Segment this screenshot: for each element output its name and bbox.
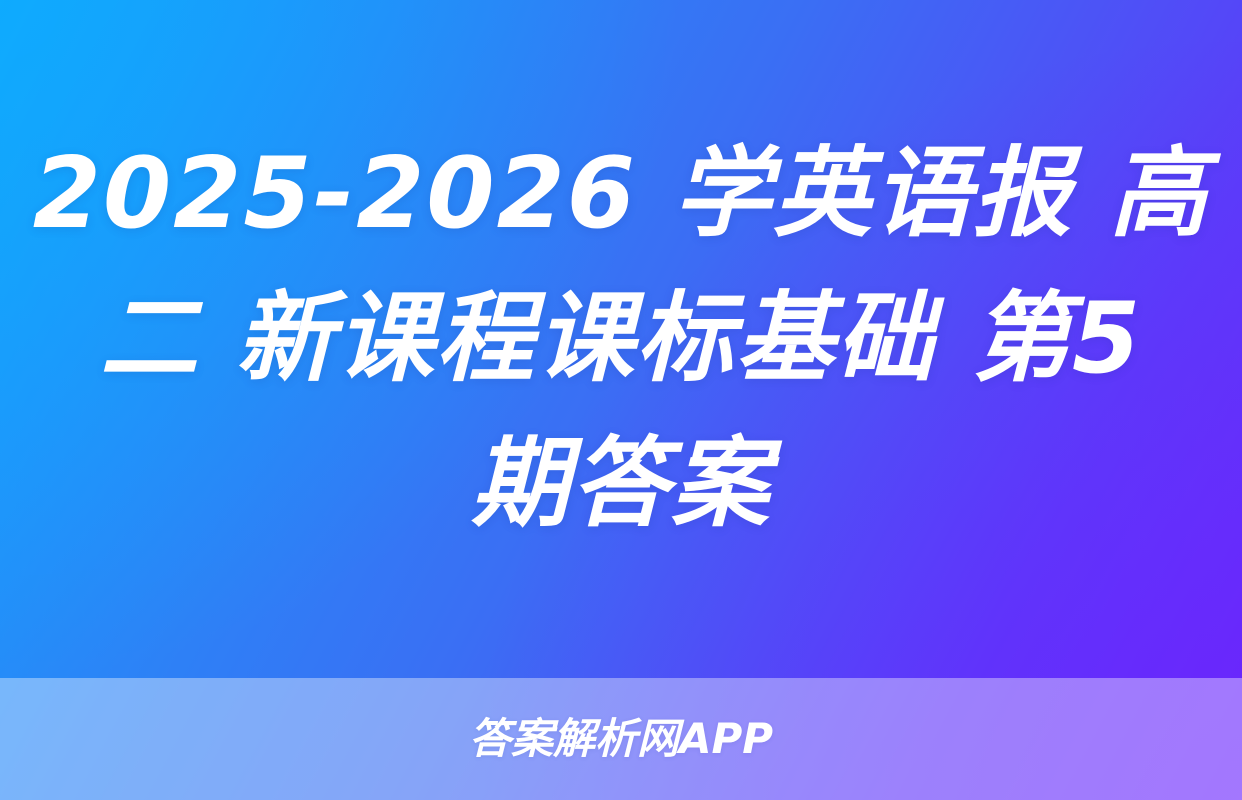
footer-brand-bar: 答案解析网APP <box>0 678 1242 800</box>
page-title: 2025-2026 学英语报 高 二 新课程课标基础 第5 期答案 <box>33 122 1209 557</box>
poster-canvas: 2025-2026 学英语报 高 二 新课程课标基础 第5 期答案 答案解析网A… <box>0 0 1242 800</box>
poster-title-container: 2025-2026 学英语报 高 二 新课程课标基础 第5 期答案 <box>0 0 1242 678</box>
app-brand-label: 答案解析网APP <box>469 718 773 760</box>
